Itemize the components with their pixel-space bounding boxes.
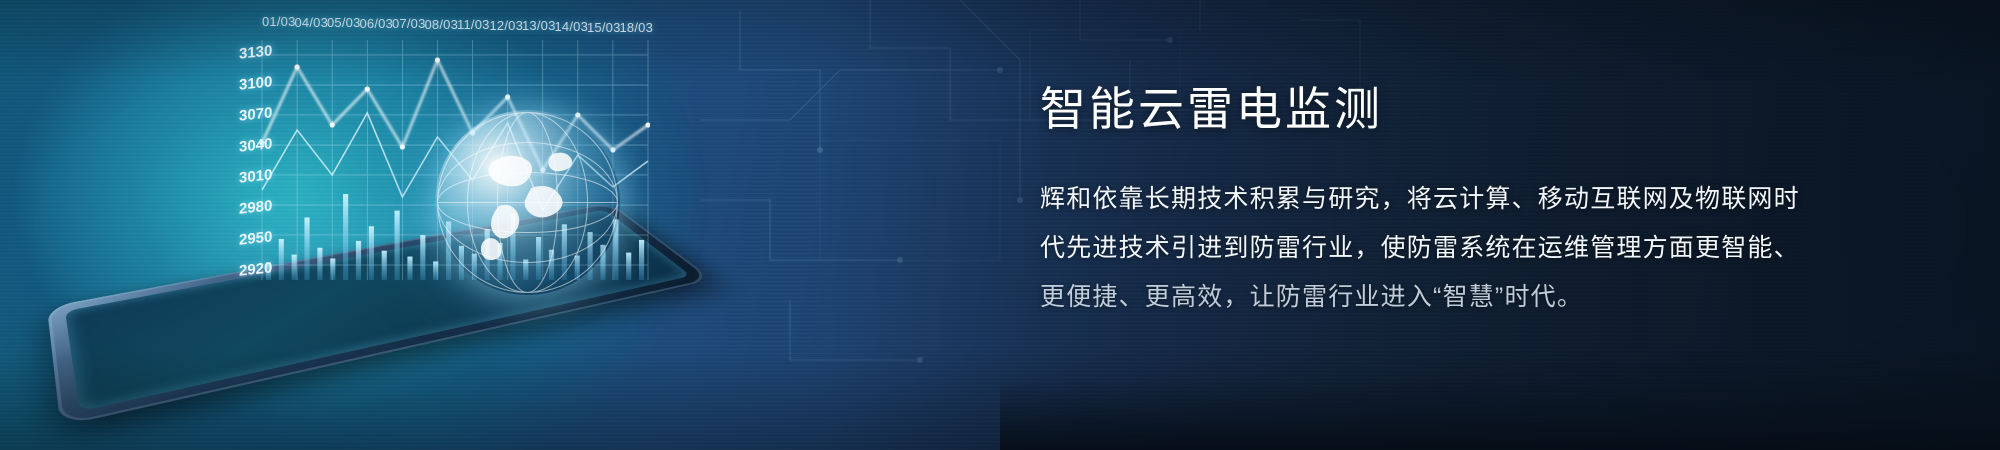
banner-root: 01/0304/0305/0306/0307/0308/0311/0312/03… — [0, 0, 2000, 450]
vignette-overlay — [0, 0, 2000, 450]
